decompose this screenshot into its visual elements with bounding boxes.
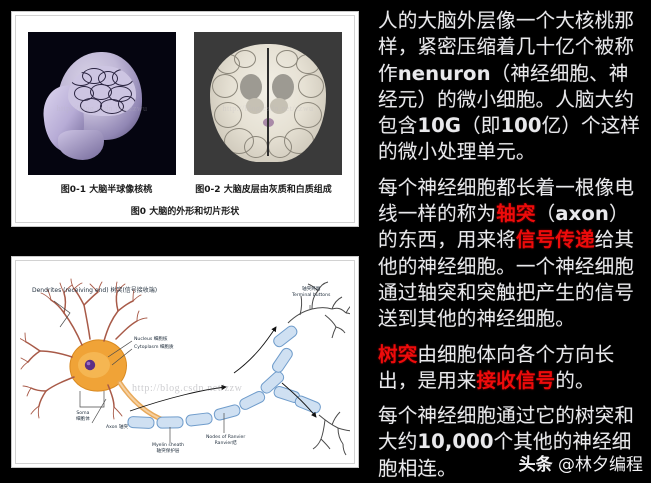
label-nucleus: Nucleus 细胞核 — [134, 337, 168, 343]
brain-photo-row: http://blog.csdn.net/zzwu — [28, 32, 342, 175]
credit-handle: @林夕编程 — [558, 455, 643, 475]
text-run-normal: （ — [536, 202, 556, 225]
label-soma: Soma 细胞体 — [76, 411, 90, 422]
head-render — [42, 50, 150, 162]
text-run-highlight: 信号传递 — [516, 228, 595, 251]
jaw-shape — [58, 130, 104, 160]
screenshot-root: http://blog.csdn.net/zzwu — [0, 0, 651, 483]
thalamus-left — [246, 98, 264, 114]
paragraph-1: 人的大脑外层像一个大核桃那样，紧密压缩着几十亿个被称作nenuron（神经细胞、… — [378, 8, 645, 166]
neuron-watermark: http://blog.csdn.net/zzw — [132, 383, 243, 394]
text-run-highlight: 树突 — [378, 343, 417, 366]
thalamus-right — [270, 98, 288, 114]
text-run-normal: 的。 — [555, 369, 594, 392]
label-axon: Axon 轴突 — [106, 425, 128, 431]
text-run-highlight: 轴突 — [496, 202, 535, 225]
caption-figure-0-2: 图0-2 大脑皮层由灰质和白质组成 — [185, 182, 342, 195]
label-terminal-buttons: 轴突终端 Terminal buttons — [292, 287, 330, 298]
caption-figure-0: 图0 大脑的外形和切片形状 — [16, 204, 354, 217]
caption-figure-0-1: 图0-1 大脑半球像核桃 — [28, 182, 185, 195]
article-text-column: 人的大脑外层像一个大核桃那样，紧密压缩着几十亿个被称作nenuron（神经细胞、… — [372, 0, 651, 483]
slice-body-shape — [210, 44, 326, 162]
coronal-slice-render — [210, 44, 326, 162]
brain-caption-row: 图0-1 大脑半球像核桃 图0-2 大脑皮层由灰质和白质组成 — [28, 182, 342, 195]
brain-hemisphere-photo: http://blog.csdn.net/zzwu — [28, 32, 176, 175]
text-run-en: nenuron — [398, 62, 491, 85]
label-cytoplasm: Cytoplasm 细胞质 — [134, 345, 174, 351]
text-run-highlight: 接收信号 — [476, 369, 555, 392]
text-run-en: 10,000 — [417, 430, 493, 453]
cortex-shape — [68, 66, 136, 116]
ventricle-left — [240, 74, 262, 100]
text-run-en: axon — [555, 202, 609, 225]
brain-figure-inner-border: http://blog.csdn.net/zzwu — [15, 15, 355, 223]
label-nodes-of-ranvier: Nodes of Ranvier Ranvier结 — [206, 435, 245, 446]
figures-column: http://blog.csdn.net/zzwu — [0, 0, 368, 483]
paragraph-3: 树突由细胞体向各个方向长出，是用来接收信号的。 — [378, 342, 645, 395]
neuron-diagram: Dendrites (receiving end) 树突(信号接收端) Nucl… — [20, 265, 350, 459]
neuron-figure-panel: Dendrites (receiving end) 树突(信号接收端) Nucl… — [11, 256, 359, 468]
label-dendrites: Dendrites (receiving end) 树突(信号接收端) — [32, 287, 157, 295]
brain-figure-panel: http://blog.csdn.net/zzwu — [11, 11, 359, 227]
author-credit: 头条 @林夕编程 — [519, 450, 643, 475]
paragraph-2: 每个神经细胞都长着一根像电线一样的称为轴突（axon）的东西，用来将信号传递给其… — [378, 175, 645, 333]
credit-platform: 头条 — [519, 455, 553, 475]
text-run-en: 10G — [417, 114, 461, 137]
neuron-figure-inner-border: Dendrites (receiving end) 树突(信号接收端) Nucl… — [15, 260, 355, 464]
label-myelin-sheath: Myelin sheath 轴突保护层 — [152, 443, 184, 454]
text-run-en: 100 — [500, 114, 541, 137]
brain-slice-photo: http://blog.csdn.net/zzwu — [194, 32, 342, 175]
midline-fissure — [267, 48, 269, 156]
text-run-normal: （即 — [461, 114, 500, 137]
ventricle-right — [272, 74, 294, 100]
